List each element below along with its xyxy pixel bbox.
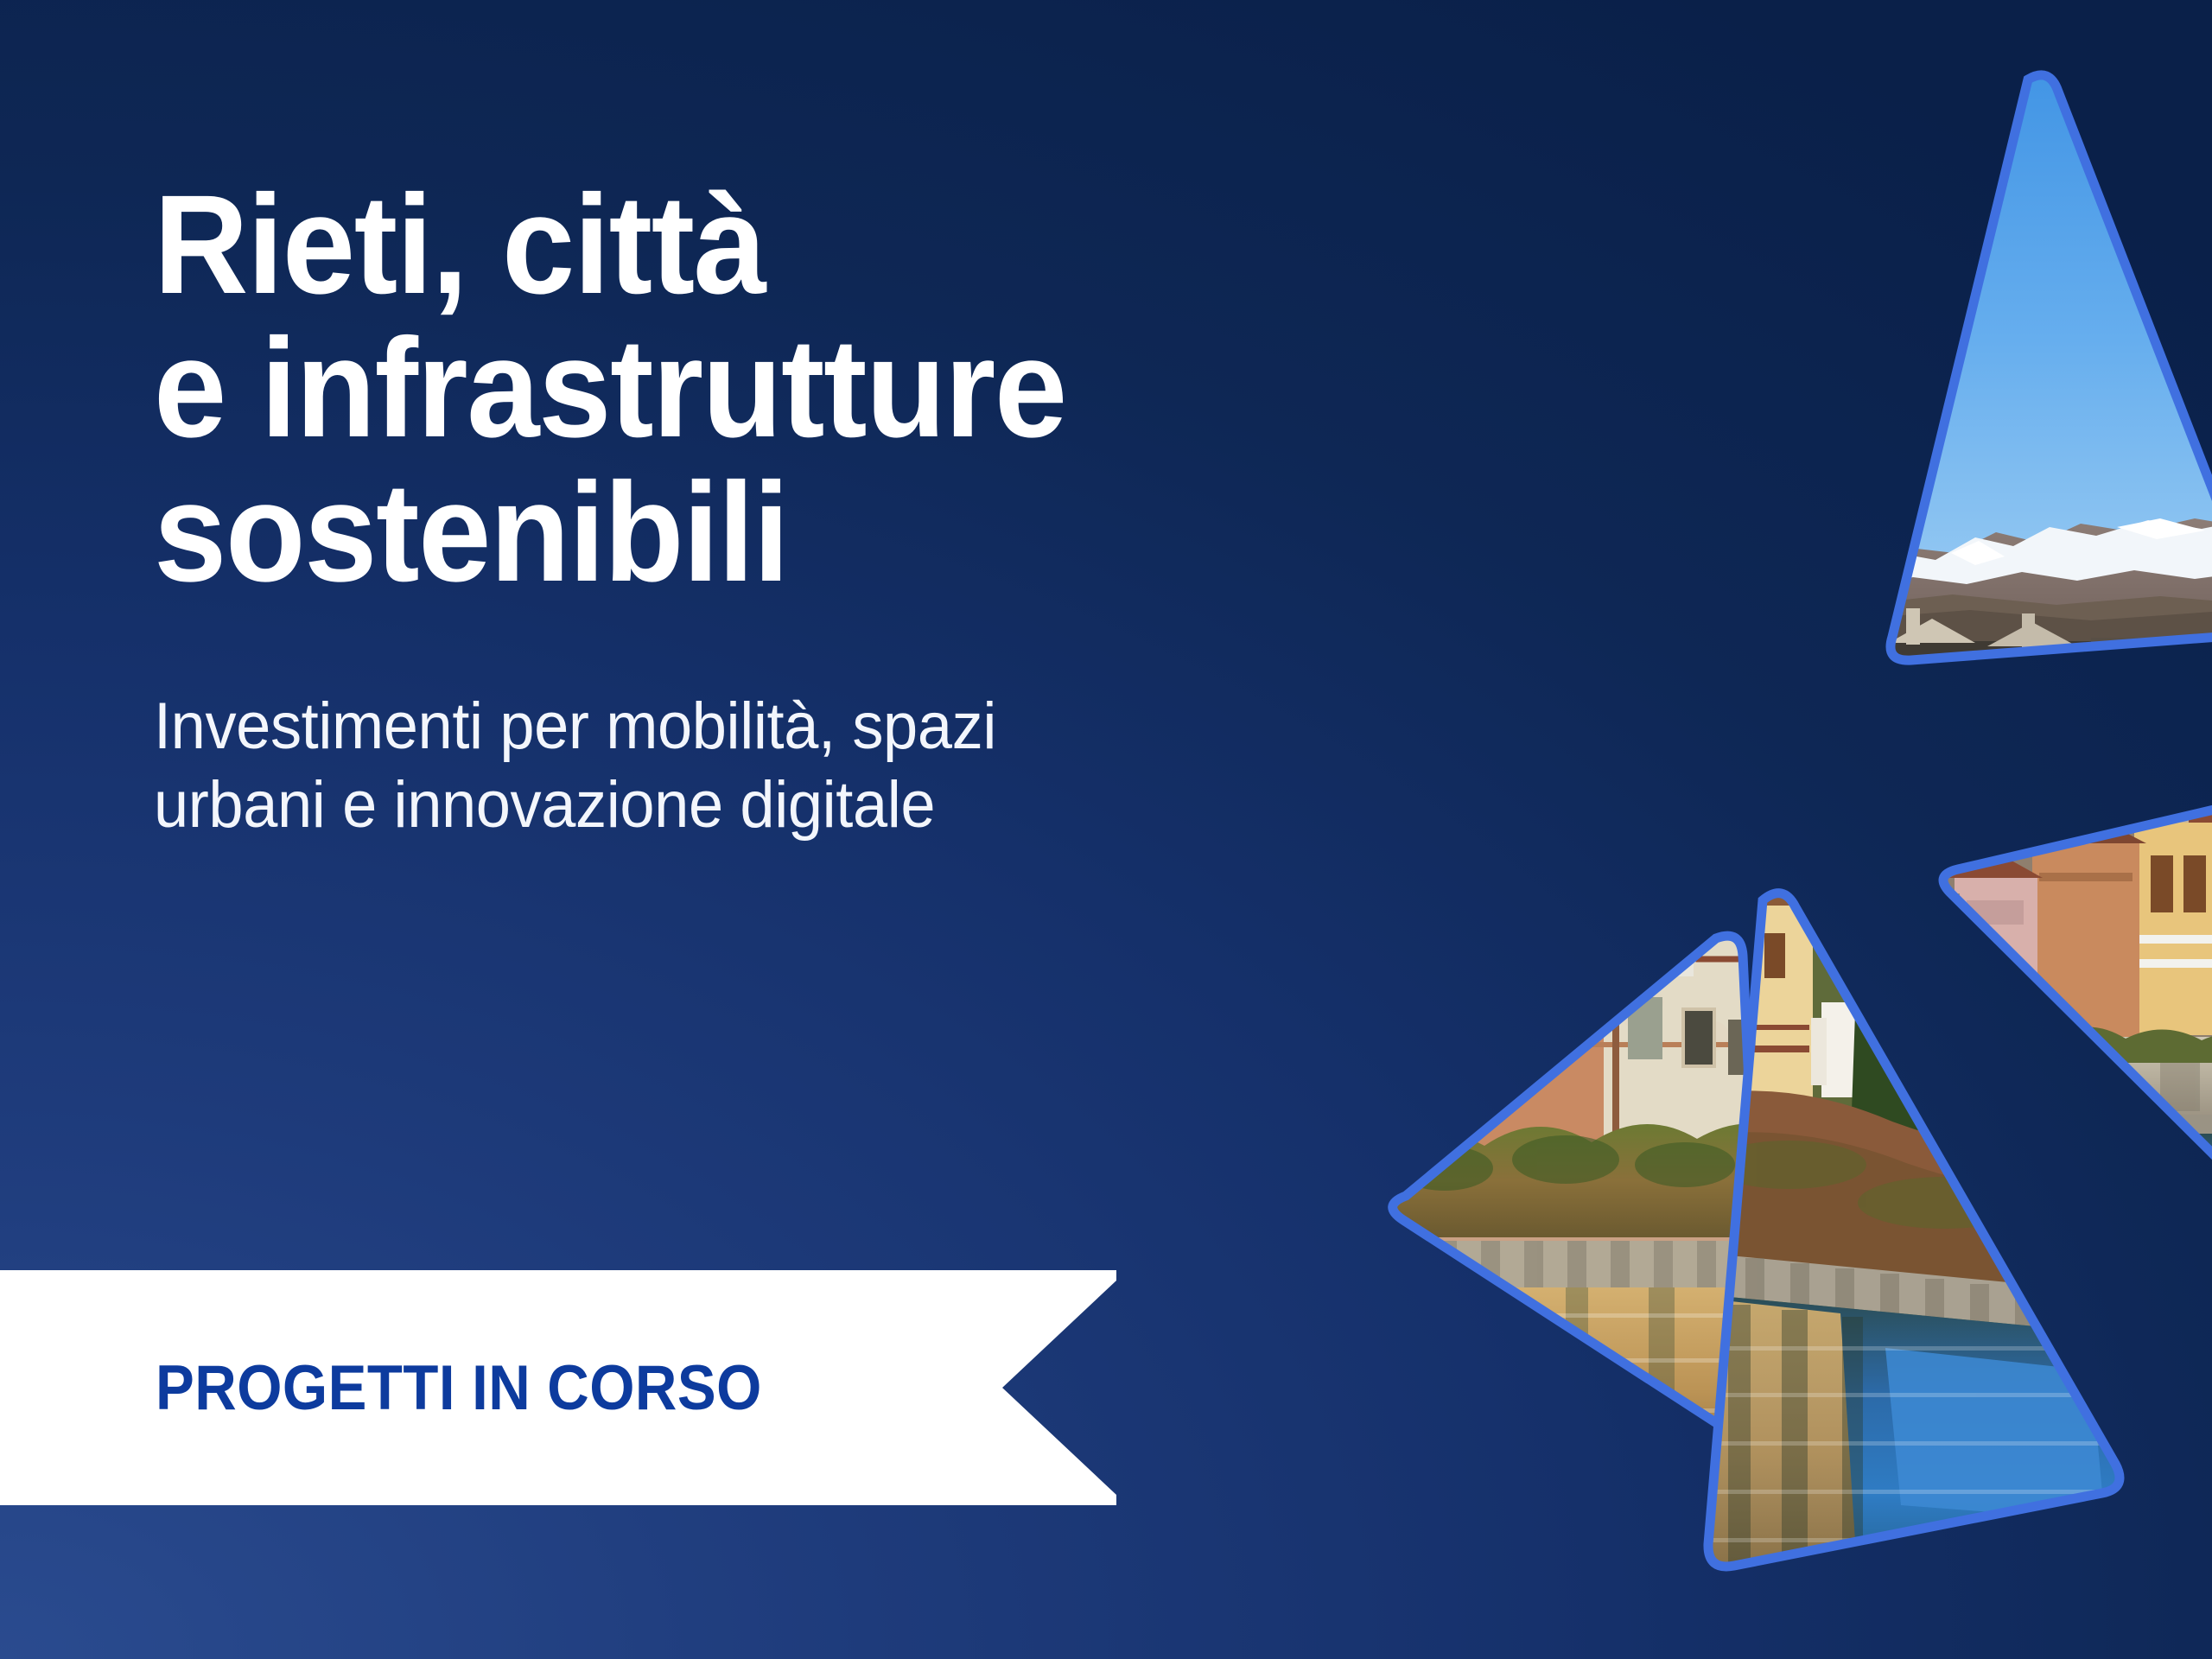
- page-subtitle: Investimenti per mobilità, spazi urbani …: [154, 687, 1549, 844]
- page-title: Rieti, città e infrastrutture sostenibil…: [154, 173, 1520, 604]
- hero-copy: Rieti, città e infrastrutture sostenibil…: [154, 173, 1623, 844]
- photo-frame-old-wall-border: [1393, 936, 1765, 1446]
- status-ribbon: PROGETTI IN CORSO: [0, 1270, 1116, 1505]
- photo-frame-mountains-border: [1891, 75, 2212, 660]
- status-badge: PROGETTI IN CORSO: [156, 1352, 762, 1424]
- photo-frame-mountains: [1858, 52, 2212, 693]
- photo-frame-riverfront-houses: [1918, 760, 2212, 1246]
- photo-frame-river-reflection: [1685, 873, 2169, 1581]
- photo-frame-river-reflection-border: [1708, 893, 2120, 1567]
- photo-frame-riverfront-houses-border: [1943, 780, 2212, 1219]
- hero-banner: Rieti, città e infrastrutture sostenibil…: [0, 0, 2212, 1659]
- photo-frame-old-wall: [1374, 916, 1789, 1478]
